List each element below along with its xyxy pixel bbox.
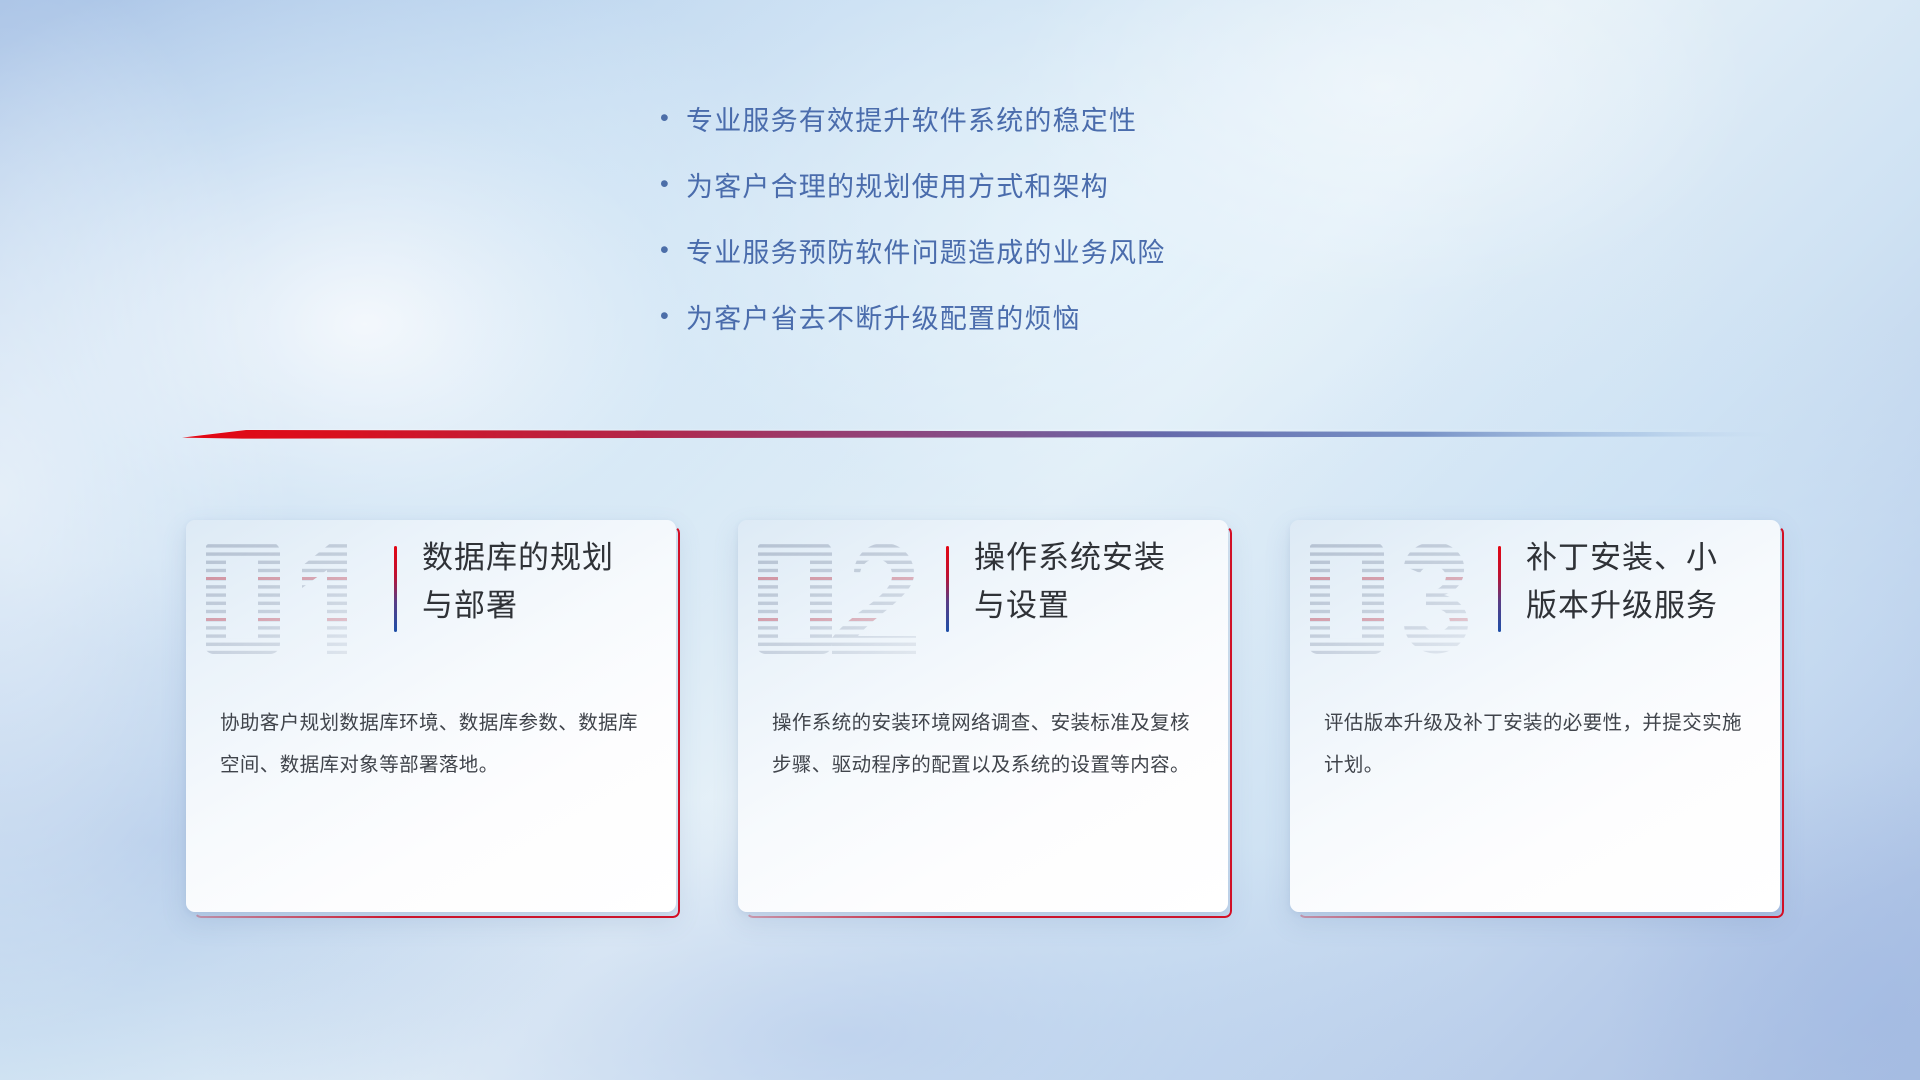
card-description: 操作系统的安装环境网络调查、安装标准及复核步骤、驱动程序的配置以及系统的设置等内… — [772, 702, 1204, 786]
benefits-bullet-list: • 专业服务有效提升软件系统的稳定性 • 为客户合理的规划使用方式和架构 • 专… — [660, 92, 1560, 356]
card-title-line-2: 与部署 — [422, 582, 662, 630]
service-card[interactable]: 数据库的规划 与部署 协助客户规划数据库环境、数据库参数、数据库空间、数据库对象… — [186, 520, 676, 912]
card-header: 数据库的规划 与部署 — [186, 520, 676, 680]
card-title-line-2: 与设置 — [974, 582, 1214, 630]
card-title-line-1: 数据库的规划 — [422, 534, 662, 582]
card-title: 数据库的规划 与部署 — [422, 534, 662, 630]
bullet-text: 为客户省去不断升级配置的烦恼 — [686, 297, 1081, 336]
section-divider — [182, 424, 1770, 446]
card-title: 补丁安装、小 版本升级服务 — [1526, 534, 1766, 630]
card-title: 操作系统安装 与设置 — [974, 534, 1214, 630]
card-title-accent-bar — [1498, 546, 1501, 632]
bullet-dot-icon: • — [660, 106, 686, 131]
service-card[interactable]: 补丁安装、小 版本升级服务 评估版本升级及补丁安装的必要性，并提交实施计划。 — [1290, 520, 1780, 912]
card-number-watermark — [758, 536, 938, 660]
bullet-dot-icon: • — [660, 238, 686, 263]
card-number-watermark — [206, 536, 386, 660]
card-title-line-1: 补丁安装、小 — [1526, 534, 1766, 582]
card-header: 操作系统安装 与设置 — [738, 520, 1228, 680]
card-number-watermark — [1310, 536, 1490, 660]
card-title-accent-bar — [394, 546, 397, 632]
service-card[interactable]: 操作系统安装 与设置 操作系统的安装环境网络调查、安装标准及复核步骤、驱动程序的… — [738, 520, 1228, 912]
card-surface: 数据库的规划 与部署 协助客户规划数据库环境、数据库参数、数据库空间、数据库对象… — [186, 520, 676, 912]
card-description: 协助客户规划数据库环境、数据库参数、数据库空间、数据库对象等部署落地。 — [220, 702, 652, 786]
bullet-text: 为客户合理的规划使用方式和架构 — [686, 165, 1109, 204]
card-description: 评估版本升级及补丁安装的必要性，并提交实施计划。 — [1324, 702, 1756, 786]
list-item: • 为客户省去不断升级配置的烦恼 — [660, 290, 1560, 342]
card-surface: 操作系统安装 与设置 操作系统的安装环境网络调查、安装标准及复核步骤、驱动程序的… — [738, 520, 1228, 912]
list-item: • 专业服务预防软件问题造成的业务风险 — [660, 224, 1560, 276]
bullet-dot-icon: • — [660, 172, 686, 197]
card-title-accent-bar — [946, 546, 949, 632]
service-card-list: 数据库的规划 与部署 协助客户规划数据库环境、数据库参数、数据库空间、数据库对象… — [186, 520, 1780, 912]
card-title-line-2: 版本升级服务 — [1526, 582, 1766, 630]
card-header: 补丁安装、小 版本升级服务 — [1290, 520, 1780, 680]
list-item: • 为客户合理的规划使用方式和架构 — [660, 158, 1560, 210]
card-surface: 补丁安装、小 版本升级服务 评估版本升级及补丁安装的必要性，并提交实施计划。 — [1290, 520, 1780, 912]
bullet-dot-icon: • — [660, 304, 686, 329]
card-title-line-1: 操作系统安装 — [974, 534, 1214, 582]
bullet-text: 专业服务预防软件问题造成的业务风险 — [686, 231, 1165, 270]
list-item: • 专业服务有效提升软件系统的稳定性 — [660, 92, 1560, 144]
bullet-text: 专业服务有效提升软件系统的稳定性 — [686, 99, 1137, 138]
